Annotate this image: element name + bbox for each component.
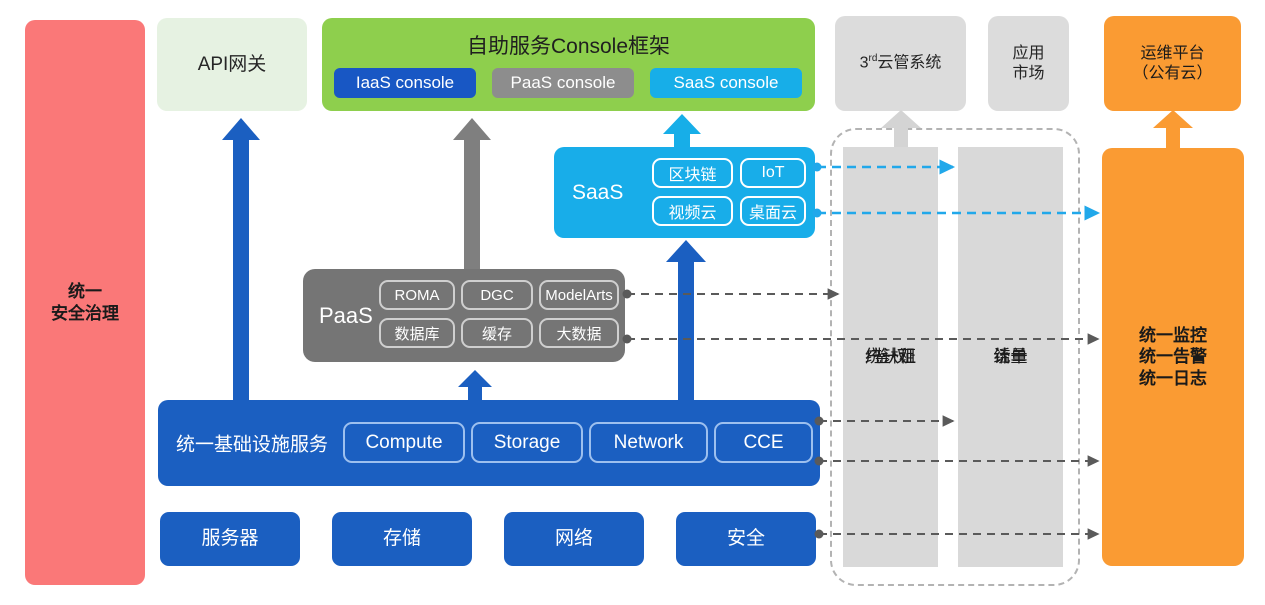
arrow-infra-to-saas — [666, 240, 706, 400]
arrow-paas-to-console — [453, 118, 491, 269]
dashed-arrow-infra-to-ops-panel — [815, 457, 1099, 466]
arrow-ops-panel-to-ops-platform — [1153, 110, 1193, 148]
dashed-arrow-paas-to-auth — [623, 290, 839, 299]
arrow-infra-to-api-gateway — [222, 118, 260, 400]
dashed-arrow-infra-to-metering — [815, 417, 954, 426]
dashed-arrow-saas-to-ops-panel — [813, 209, 1099, 218]
arrow-infra-to-paas — [458, 370, 492, 400]
diagram-canvas: 统一 安全治理 API网关 自助服务Console框架 IaaS console… — [0, 0, 1265, 605]
arrow-saas-to-console — [663, 114, 701, 147]
dashed-arrow-saas-to-metering — [813, 163, 954, 172]
connector-arrows — [0, 0, 1265, 605]
dashed-arrow-hardware-to-ops-panel — [815, 530, 1099, 539]
arrow-auth-to-third-party — [881, 110, 921, 147]
